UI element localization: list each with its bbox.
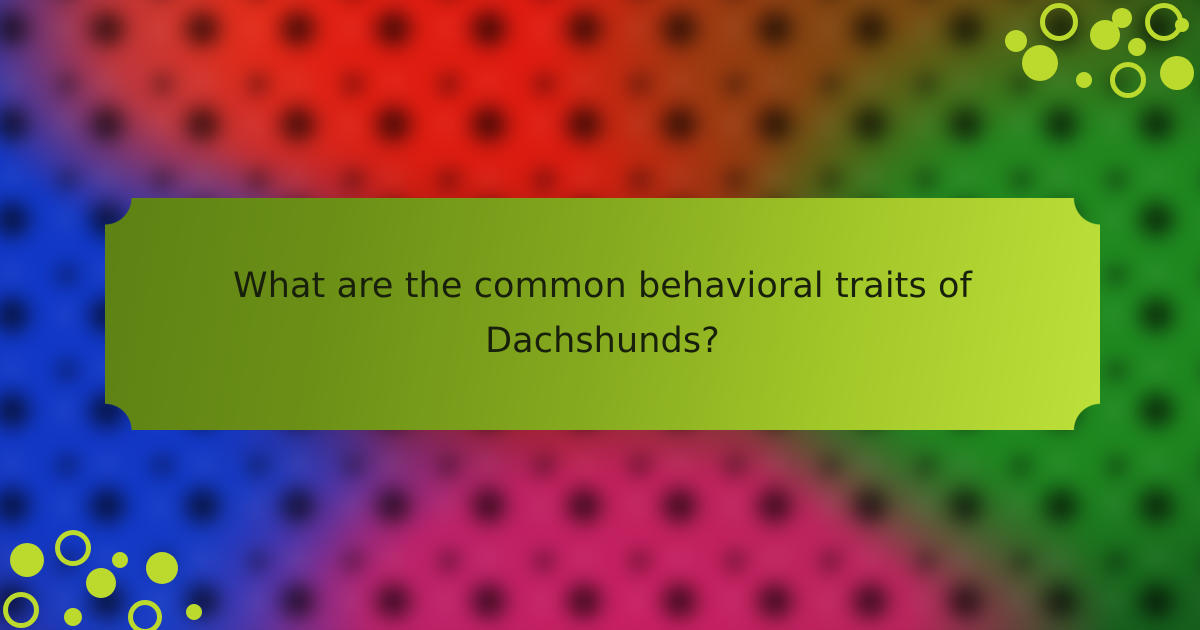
circle-tr-11 <box>1175 18 1189 32</box>
circle-tr-9 <box>1110 62 1146 98</box>
question-card: What are the common behavioral traits of… <box>105 198 1100 430</box>
circle-bl-5 <box>146 552 178 584</box>
circle-tr-2 <box>1040 3 1078 41</box>
question-text: What are the common behavioral traits of… <box>223 259 983 370</box>
circle-bl-7 <box>64 608 82 626</box>
circle-bl-4 <box>86 568 116 598</box>
screenshot-canvas: What are the common behavioral traits of… <box>0 0 1200 630</box>
circle-bl-8 <box>128 600 162 630</box>
circle-bl-2 <box>55 530 91 566</box>
circle-bl-9 <box>186 604 202 620</box>
circle-bl-3 <box>112 552 128 568</box>
circle-bl-6 <box>3 592 39 628</box>
circle-tr-5 <box>1076 72 1092 88</box>
circle-bl-1 <box>10 543 44 577</box>
circle-tr-6 <box>1112 8 1132 28</box>
circle-tr-3 <box>1022 45 1058 81</box>
circle-tr-10 <box>1160 56 1194 90</box>
circle-tr-8 <box>1128 38 1146 56</box>
circle-tr-1 <box>1005 30 1027 52</box>
